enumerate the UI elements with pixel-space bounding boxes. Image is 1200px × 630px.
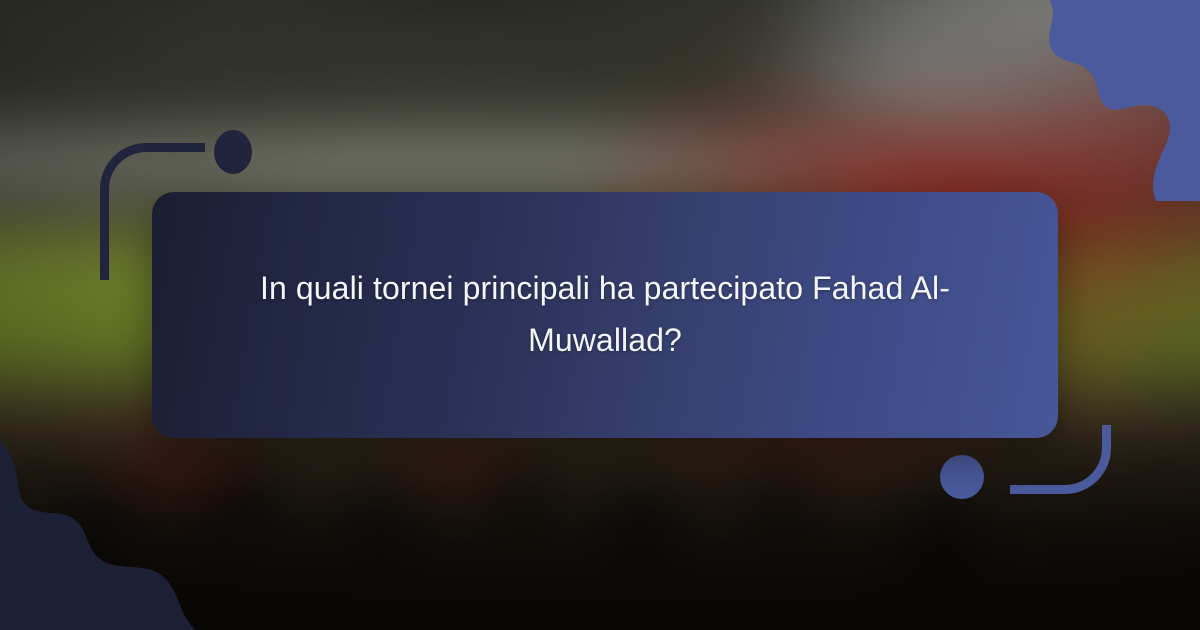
blob-bottom-left <box>0 431 212 630</box>
blob-top-right <box>960 0 1200 201</box>
question-card: In quali tornei principali ha partecipat… <box>152 192 1058 438</box>
circle-light-icon <box>940 455 984 499</box>
question-text: In quali tornei principali ha partecipat… <box>222 263 988 367</box>
circle-dark-icon <box>214 130 252 174</box>
share-card-canvas: In quali tornei principali ha partecipat… <box>0 0 1200 630</box>
